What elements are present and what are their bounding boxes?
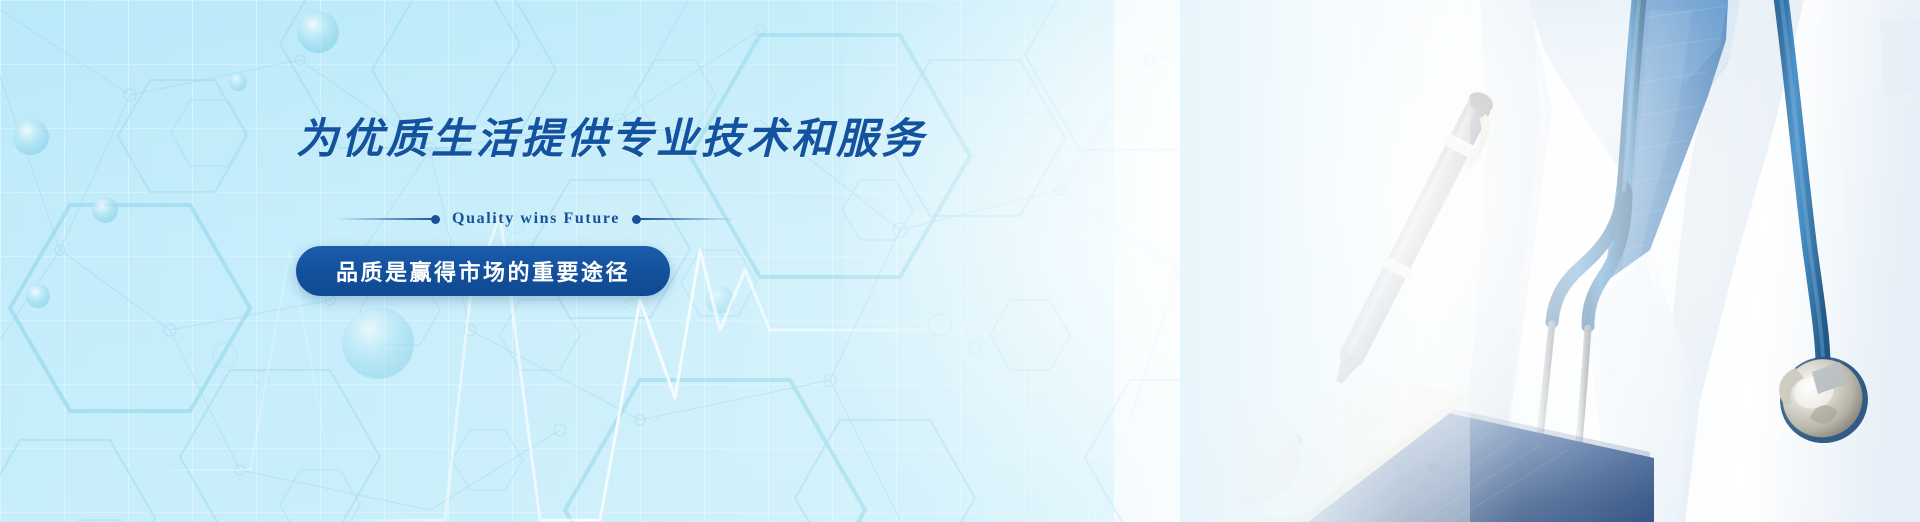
tagline-rule-left: [336, 218, 431, 220]
banner-content: 为优质生活提供专业技术和服务 Quality wins Future 品质是赢得…: [296, 118, 926, 296]
banner-headline: 为优质生活提供专业技术和服务: [296, 118, 926, 160]
doctor-illustration: [1180, 0, 1920, 522]
slogan-pill-label: 品质是赢得市场的重要途径: [336, 255, 630, 287]
tagline-rule-right: [641, 218, 736, 220]
tagline-dot-right: [632, 215, 641, 224]
tagline-row: Quality wins Future: [336, 210, 736, 228]
slogan-pill-button[interactable]: 品质是赢得市场的重要途径: [296, 246, 670, 296]
hero-banner: 为优质生活提供专业技术和服务 Quality wins Future 品质是赢得…: [0, 0, 1920, 522]
tagline-english: Quality wins Future: [440, 210, 632, 228]
tagline-dot-left: [431, 215, 440, 224]
doctor-photo: [1180, 0, 1920, 522]
